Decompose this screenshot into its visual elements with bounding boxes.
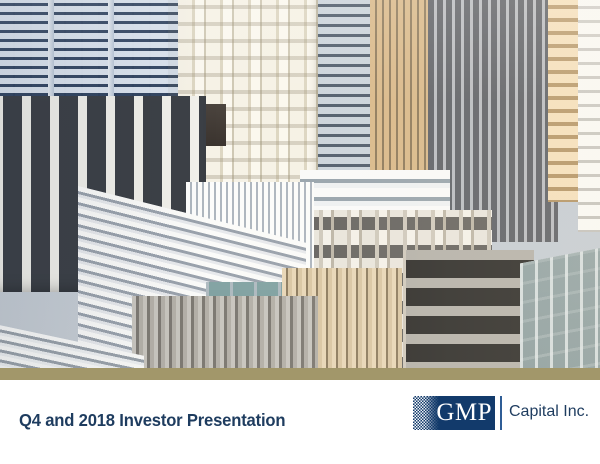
gold-accent-rule <box>0 368 600 380</box>
company-name: Capital Inc. <box>509 396 589 430</box>
building-glass-curtain-wall <box>520 246 600 368</box>
slide-footer: Q4 and 2018 Investor Presentation GMP Ca… <box>0 380 600 464</box>
gmp-logo-mark: GMP <box>413 396 495 430</box>
title-slide: Q4 and 2018 Investor Presentation GMP Ca… <box>0 0 600 464</box>
gmp-capital-logo: GMP Capital Inc. <box>413 396 589 430</box>
gmp-wordmark: GMP <box>436 400 492 427</box>
building-concrete-parking-structure <box>406 250 534 368</box>
dither-pattern-icon <box>413 396 439 430</box>
building-grey-louvered-fan <box>132 296 318 368</box>
building-tan-narrow-tower <box>548 0 582 202</box>
page-title: Q4 and 2018 Investor Presentation <box>19 410 285 431</box>
logo-separator <box>500 396 502 430</box>
city-skyline-photo <box>0 0 600 368</box>
building-pale-sliver <box>578 0 600 232</box>
